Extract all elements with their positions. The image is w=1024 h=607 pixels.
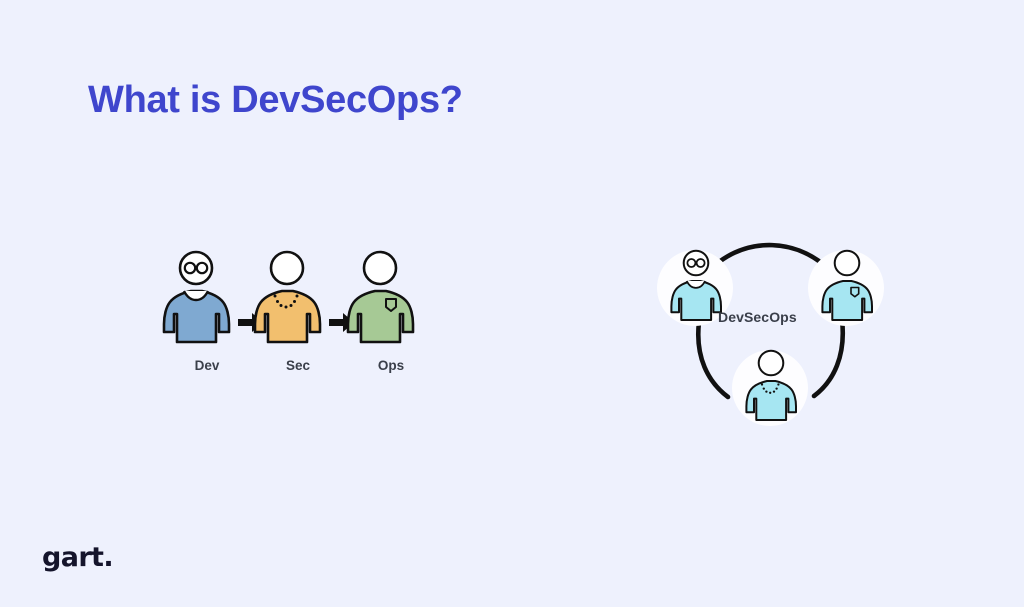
pipeline-figure-dev xyxy=(164,252,229,342)
cycle-svg xyxy=(646,224,896,440)
pipeline-label-ops: Ops xyxy=(361,358,421,373)
cycle-node-sec-head xyxy=(759,351,784,376)
ops-head xyxy=(364,252,396,284)
pipeline-figure-ops xyxy=(348,252,413,342)
pipeline-label-dev: Dev xyxy=(177,358,237,373)
brand-logo-text: gart. xyxy=(42,543,162,573)
cycle-center-label: DevSecOps xyxy=(718,309,797,325)
pipeline-figure-sec xyxy=(255,252,320,342)
sec-head xyxy=(271,252,303,284)
sec-shirt xyxy=(255,291,320,342)
ops-shirt xyxy=(348,291,413,342)
arc-right xyxy=(814,320,843,396)
arc-top xyxy=(719,245,824,265)
brand-logo: gart. xyxy=(42,543,162,575)
cycle-node-sec xyxy=(732,350,808,426)
arc-left xyxy=(698,322,728,397)
cycle-node-ops xyxy=(808,250,884,326)
slide-canvas: What is DevSecOps? xyxy=(0,0,1024,607)
devsecops-cycle-diagram xyxy=(646,224,896,440)
page-title: What is DevSecOps? xyxy=(88,80,463,122)
cycle-node-ops-head xyxy=(835,251,860,276)
pipeline-label-sec: Sec xyxy=(268,358,328,373)
